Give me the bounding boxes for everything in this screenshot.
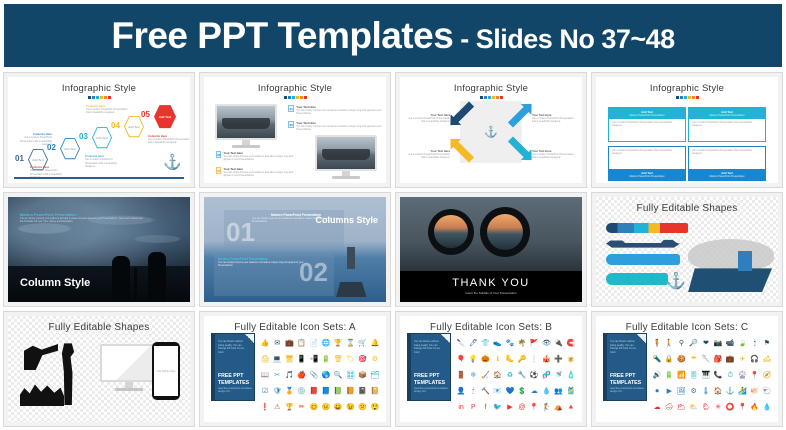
- icon-r2-c5[interactable]: 🦶: [506, 356, 515, 363]
- hex-label-02: Add Text: [61, 139, 79, 159]
- icon-r4-c5[interactable]: 🌡: [701, 388, 710, 395]
- icon-r4-c8[interactable]: 💧: [542, 388, 551, 395]
- hex-number-03: 03: [79, 132, 88, 141]
- hex-label-03: Add Text: [93, 128, 111, 148]
- icon-r4-c5[interactable]: 💙: [506, 388, 515, 395]
- icon-r2-c1[interactable]: 🔦: [653, 356, 662, 363]
- icon-r3-c3[interactable]: 🎵: [285, 372, 294, 379]
- icon-r1-c3[interactable]: ⚲: [679, 340, 684, 347]
- icon-r3-c4[interactable]: 🍎: [297, 372, 306, 379]
- book-blurb: You can Resize without losing quality. Y…: [610, 340, 641, 354]
- icon-r3-c10[interactable]: 🗂: [370, 372, 379, 379]
- hex-caption-02: Contents Here Get a modern PowerPoint Pr…: [16, 132, 52, 146]
- icon-r4-c3[interactable]: 🖼: [677, 388, 686, 395]
- icon-r3-c9[interactable]: 🚿: [554, 372, 563, 379]
- ship-tower: [347, 247, 355, 269]
- column-number-01: 01: [226, 219, 255, 245]
- thank-you-subtitle: Insert the Subtitle of Your Presentation: [465, 291, 516, 295]
- monitor-top-left: [215, 104, 277, 148]
- icon-r1-c5[interactable]: 📄: [310, 340, 319, 347]
- icon-r3-c10[interactable]: 🧴: [567, 372, 576, 379]
- icon-r2-c2[interactable]: 💻: [273, 356, 282, 363]
- icon-r3-c4[interactable]: 🏠: [493, 372, 502, 379]
- dot-row-2: [204, 96, 386, 99]
- slide-canvas-5: Modern PowerPoint Presentation You can s…: [8, 197, 190, 303]
- icon-r5-c1[interactable]: ❗: [261, 404, 270, 411]
- icon-r1-c3[interactable]: 💼: [285, 340, 294, 347]
- book-spine: [604, 334, 607, 400]
- hex-caption-05: Contents Here Get a modern PowerPoint Pr…: [148, 134, 190, 145]
- hex-shape-03[interactable]: Add Text: [92, 127, 112, 149]
- icon-r2-c5[interactable]: 🥄: [702, 356, 711, 363]
- slide-canvas-11: Fully Editable Icon Sets: B You can Resi…: [400, 316, 582, 422]
- book-title: FREE PPT TEMPLATES www.free-powerpoint-t…: [610, 373, 646, 393]
- slide-title-12: Fully Editable Icon Sets: C: [596, 316, 778, 333]
- icon-r3-c2[interactable]: ❄: [470, 372, 476, 379]
- icon-r2-c8[interactable]: 🏷: [346, 356, 355, 363]
- icon-r5-c2[interactable]: 🌧: [665, 404, 674, 411]
- slide-title-2: Infographic Style: [204, 77, 386, 94]
- icon-r4-c6[interactable]: 📘: [322, 388, 331, 395]
- submarine-teal-shape[interactable]: [606, 273, 668, 285]
- book-spine: [408, 334, 411, 400]
- icon-r2-c1[interactable]: 🖨: [261, 356, 270, 363]
- icon-r3-c3[interactable]: 📶: [677, 372, 686, 379]
- book-cover-c[interactable]: You can Resize without losing quality. Y…: [603, 333, 647, 401]
- book-blurb: You can Resize without losing quality. Y…: [218, 340, 249, 354]
- slide-title-4: Infographic Style: [596, 77, 778, 94]
- icon-r5-c1[interactable]: in: [458, 404, 463, 411]
- icon-r5-c5[interactable]: 😊: [310, 404, 319, 411]
- icon-r1-c4[interactable]: 🔎: [689, 340, 698, 347]
- slide-canvas-4: Infographic Style Add Text Modern PowerP…: [596, 77, 778, 183]
- icon-r1-c9[interactable]: 🕯: [754, 340, 756, 347]
- icon-r1-c8[interactable]: 🍃: [738, 340, 747, 347]
- dot-row-3: [400, 96, 582, 99]
- smoke-cloud: [688, 239, 774, 271]
- slide-canvas-8: Fully Editable Shapes ⚓: [596, 197, 778, 303]
- icon-r4-c7[interactable]: ☁: [531, 388, 538, 395]
- hex-shape-05[interactable]: Add Text: [154, 105, 176, 129]
- icon-r1-c2[interactable]: 🚶: [665, 340, 674, 347]
- icon-r3-c6[interactable]: 🔧: [518, 372, 527, 379]
- icon-r3-c9[interactable]: 📦: [358, 372, 367, 379]
- icon-r3-c1[interactable]: 📖: [261, 372, 270, 379]
- number-chip-01: 01: [288, 105, 294, 112]
- icon-r4-c2[interactable]: 🕯: [472, 388, 474, 395]
- icon-r1-c5[interactable]: ❤: [703, 340, 709, 347]
- icon-r2-c4[interactable]: 📱: [297, 356, 306, 363]
- slide-thumbnail-4[interactable]: Infographic Style Add Text Modern PowerP…: [591, 72, 783, 188]
- icon-r2-c3[interactable]: 🖥: [285, 356, 294, 363]
- slide-thumbnail-8[interactable]: Fully Editable Shapes ⚓: [591, 192, 783, 308]
- icon-r5-c3[interactable]: 🏆: [285, 404, 294, 411]
- book-blurb: You can Resize without losing quality. Y…: [414, 340, 445, 354]
- book-url: www.free-powerpoint-templates-design.com: [414, 387, 450, 393]
- book-cover-b[interactable]: You can Resize without losing quality. Y…: [407, 333, 451, 401]
- text-block-03: 03 Your Text Here You can simply impress…: [216, 151, 294, 162]
- icon-r2-c7[interactable]: ❕: [530, 356, 539, 363]
- icon-r5-c9[interactable]: 🔥: [750, 404, 759, 411]
- content-box-1-header: Add Text Modern PowerPoint Presentation: [609, 108, 685, 119]
- slide-5-text: Modern PowerPoint Presentation You can s…: [20, 213, 144, 225]
- book-url: www.free-powerpoint-templates-design.com: [610, 387, 646, 393]
- text-block-02: 02 Your Text Here You can simply impress…: [288, 121, 383, 132]
- icon-r5-c1[interactable]: ☁: [654, 404, 661, 411]
- hex-shape-04[interactable]: Add Text: [124, 116, 144, 138]
- monitor-screen-2: [315, 135, 377, 171]
- icon-r1-c4[interactable]: 👟: [493, 340, 502, 347]
- torpedo-shape[interactable]: [606, 223, 688, 233]
- icon-r3-c7[interactable]: 🔍: [334, 372, 343, 379]
- rifle-silhouette: [134, 268, 137, 302]
- icon-r4-c7[interactable]: 📗: [334, 388, 343, 395]
- hex-number-05: 05: [141, 110, 150, 119]
- icon-r2-c2[interactable]: 🔒: [665, 356, 674, 363]
- icon-r1-c10[interactable]: 🧲: [567, 340, 576, 347]
- soldier-silhouette-2: [148, 252, 166, 302]
- page-banner: Free PPT Templates - Slides No 37~48: [4, 4, 782, 67]
- arrow-caption-01: Your Text Here Get a modern PowerPoint P…: [406, 113, 450, 124]
- book-title: FREE PPT TEMPLATES www.free-powerpoint-t…: [414, 373, 450, 393]
- icon-r1-c1[interactable]: 🧍: [653, 340, 662, 347]
- icon-r3-c1[interactable]: 🔊: [653, 372, 662, 379]
- dot-row-4: [596, 96, 778, 99]
- icon-r1-c8[interactable]: ⌛: [346, 340, 355, 347]
- icon-r2-c8[interactable]: 🎪: [542, 356, 551, 363]
- icon-r1-c4[interactable]: 📋: [297, 340, 306, 347]
- icon-r5-c7[interactable]: ⭕: [726, 404, 735, 411]
- icon-r4-c7[interactable]: ⚓: [726, 388, 735, 395]
- photo-naval-boat: [217, 106, 275, 138]
- imac-base: [115, 388, 143, 391]
- slide-thumbnail-5[interactable]: Modern PowerPoint Presentation You can s…: [3, 192, 195, 308]
- icon-r3-c7[interactable]: ⚽: [530, 372, 539, 379]
- icon-r1-c1[interactable]: 🔪: [457, 340, 466, 347]
- icon-r1-c1[interactable]: 👍: [261, 340, 270, 347]
- icon-r4-c1[interactable]: ⏺: [655, 388, 659, 395]
- icon-r1-c6[interactable]: 🌐: [322, 340, 331, 347]
- icon-r2-c10[interactable]: 🛋: [762, 356, 771, 363]
- slide-baseline-1: [14, 177, 184, 179]
- icon-r5-c6[interactable]: ✳: [715, 404, 721, 411]
- arrow-cycle-group: ⚓: [460, 101, 522, 163]
- slide-thumbnail-10[interactable]: Fully Editable Icon Sets: A You can Resi…: [199, 311, 391, 427]
- content-box-1-body: Get a modern PowerPoint Presentation tha…: [609, 119, 685, 130]
- hex-caption-04: Contents Here Get a modern PowerPoint Pr…: [86, 104, 128, 115]
- text-block-02-body: Your Text Here You can simply impress yo…: [296, 121, 383, 132]
- icon-r4-c2[interactable]: 🛡: [273, 388, 282, 395]
- battleship-tower[interactable]: [738, 251, 752, 271]
- banner-main-text: Free PPT Templates: [111, 15, 453, 56]
- hex-number-01: 01: [15, 154, 24, 163]
- monitor-bottom-right: [315, 135, 377, 179]
- icon-r5-c6[interactable]: @: [519, 404, 526, 411]
- icon-r3-c6[interactable]: 📞: [714, 372, 723, 379]
- icon-r5-c5[interactable]: 🌦: [701, 404, 710, 411]
- icon-r2-c2[interactable]: 💡: [469, 356, 478, 363]
- icon-r5-c6[interactable]: 😐: [322, 404, 331, 411]
- icon-r1-c3[interactable]: 👕: [481, 340, 490, 347]
- number-chip-03: 03: [216, 151, 221, 158]
- arrow-caption-04: Your Text Here Get a modern PowerPoint P…: [406, 149, 450, 160]
- icon-r4-c8[interactable]: 📙: [346, 388, 355, 395]
- icon-r2-c3[interactable]: 🎃: [481, 356, 490, 363]
- content-box-3-header: Add Text Modern PowerPoint Presentation: [609, 169, 685, 180]
- book-cover-a[interactable]: You can Resize without losing quality. Y…: [211, 333, 255, 401]
- icon-r1-c9[interactable]: 🔌: [554, 340, 563, 347]
- icon-r1-c9[interactable]: 🛒: [358, 340, 367, 347]
- hex-shape-02[interactable]: Add Text: [60, 138, 80, 160]
- icon-r4-c6[interactable]: 💲: [518, 388, 527, 395]
- book-title: FREE PPT TEMPLATES www.free-powerpoint-t…: [218, 373, 254, 393]
- slide-grid: Infographic Style 01 Add Text Contents H…: [0, 72, 786, 430]
- slide-thumbnail-2[interactable]: Infographic Style 01 You: [199, 72, 391, 188]
- icon-r2-c9[interactable]: 🎯: [358, 356, 367, 363]
- icon-r5-c3[interactable]: f: [485, 404, 487, 411]
- icon-grid-b: 🔪🖊👕👟🐾🌴🚩👁🔌🧲🎈💡🎃ℹ🦶🔑❕🎪➕🍺🚪❄🏑🏠♻🔧⚽🧬🚿🧴👤🕯🔨📧💙💲☁💧👥🎽…: [455, 335, 577, 416]
- icon-r5-c10[interactable]: 😲: [371, 404, 380, 411]
- icon-r1-c6[interactable]: 🌴: [518, 340, 527, 347]
- arrow-caption-02: Your Text Here Get a modern PowerPoint P…: [532, 113, 576, 124]
- content-box-4[interactable]: Get a modern PowerPoint Presentation tha…: [688, 146, 766, 181]
- slide-thumbnail-1[interactable]: Infographic Style 01 Add Text Contents H…: [3, 72, 195, 188]
- icon-r4-c2[interactable]: ▶: [667, 388, 672, 395]
- icon-r5-c4[interactable]: 🐦: [493, 404, 502, 411]
- icon-r4-c8[interactable]: 🏄: [738, 388, 747, 395]
- icon-r5-c2[interactable]: P: [471, 404, 476, 411]
- content-box-3-body: Get a modern PowerPoint Presentation tha…: [609, 147, 685, 169]
- slide-title-7: THANK YOU: [452, 277, 529, 289]
- icon-r3-c3[interactable]: 🏑: [481, 372, 490, 379]
- content-box-4-body: Get a modern PowerPoint Presentation tha…: [689, 147, 765, 169]
- icon-r5-c7[interactable]: 📍: [530, 404, 539, 411]
- icon-r1-c5[interactable]: 🐾: [506, 340, 515, 347]
- icon-r1-c7[interactable]: 🏆: [334, 340, 343, 347]
- icon-grid-a: 👍✉💼📋📄🌐🏆⌛🛒🔔🖨💻🖥📱📲🔋🗑🏷🎯⚙📖✂🎵🍎📎🌎🔍🎛📦🗂☑🛡🏅💿📕📘📗📙📓📔…: [259, 335, 381, 416]
- icon-r5-c5[interactable]: ▶: [507, 404, 512, 411]
- icon-grid-c: 🧍🚶⚲🔎❤📷📹🍃🕯⚑🔦🔒🍪☂🥄🎒💼✈🎧🛋🔊🔋📶🎚🎹📞⏱🎡📍🧭⏺▶🖼⚙🌡🏠⚓🏄🐖🐑…: [651, 335, 773, 416]
- icon-r4-c10[interactable]: 🎽: [567, 388, 576, 395]
- icon-r3-c2[interactable]: 🔋: [665, 372, 674, 379]
- icon-r5-c10[interactable]: 🔺: [567, 404, 576, 411]
- icon-r4-c1[interactable]: 👤: [457, 388, 466, 395]
- icon-r3-c5[interactable]: ♻: [507, 372, 513, 379]
- text-block-01: 01 Your Text Here You can simply impress…: [288, 105, 383, 116]
- smartphone[interactable]: Your Picture Here: [152, 342, 180, 400]
- content-box-1[interactable]: Add Text Modern PowerPoint Presentation …: [608, 107, 686, 142]
- slide-canvas-7: THANK YOU Insert the Subtitle of Your Pr…: [400, 197, 582, 303]
- column-text-2: Modern PowerPoint Presentation You can s…: [218, 257, 306, 268]
- icon-r3-c10[interactable]: 🧭: [763, 372, 772, 379]
- icon-r3-c5[interactable]: 🎹: [702, 372, 711, 379]
- slide-title-9: Fully Editable Shapes: [8, 316, 190, 333]
- number-chip-04: 04: [216, 167, 221, 174]
- icon-r2-c9[interactable]: ➕: [554, 356, 563, 363]
- icon-r3-c1[interactable]: 🚪: [457, 372, 466, 379]
- icon-r5-c7[interactable]: 😀: [334, 404, 343, 411]
- icon-r3-c8[interactable]: 🎛: [346, 372, 355, 379]
- binocular-lens-left: [428, 209, 474, 255]
- slide-title-3: Infographic Style: [400, 77, 582, 94]
- icon-r5-c4[interactable]: ✏: [299, 404, 305, 411]
- slide-canvas-3: Infographic Style ⚓ Your Text Here Get a…: [400, 77, 582, 183]
- slide-thumbnail-9[interactable]: Fully Editable Shapes Your Picture Here: [3, 311, 195, 427]
- page-root: Free PPT Templates - Slides No 37~48 Inf…: [0, 0, 786, 430]
- slide-canvas-12: Fully Editable Icon Sets: C You can Resi…: [596, 316, 778, 422]
- photo-naval-crew: [317, 137, 375, 169]
- icon-r4-c5[interactable]: 📕: [310, 388, 319, 395]
- banner-title: Free PPT Templates - Slides No 37~48: [111, 15, 674, 57]
- thank-you-bar: THANK YOU Insert the Subtitle of Your Pr…: [400, 271, 582, 303]
- icon-r5-c3[interactable]: 🌥: [677, 404, 686, 411]
- slide-canvas-6: 01 02 Modern PowerPoint Presentation You…: [204, 197, 386, 303]
- text-block-03-body: Your Text Here You can simply impress yo…: [223, 151, 294, 162]
- icon-r4-c10[interactable]: 📔: [371, 388, 380, 395]
- icon-r5-c8[interactable]: 🏌: [542, 404, 551, 411]
- number-chip-02: 02: [288, 121, 294, 128]
- icon-r4-c10[interactable]: 🐑: [763, 388, 772, 395]
- icon-r4-c6[interactable]: 🏠: [714, 388, 723, 395]
- hex-caption-03: Contents Here Get a modern PowerPoint Pr…: [85, 154, 125, 168]
- icon-r4-c4[interactable]: 📧: [493, 388, 502, 395]
- slide-canvas-1: Infographic Style 01 Add Text Contents H…: [8, 77, 190, 183]
- anchor-icon: ⚓: [163, 153, 182, 171]
- slide-title-10: Fully Editable Icon Sets: A: [204, 316, 386, 333]
- imac-monitor[interactable]: [100, 344, 158, 391]
- slide-canvas-9: Fully Editable Shapes Your Picture Here: [8, 316, 190, 422]
- icon-r2-c6[interactable]: 🔑: [518, 356, 527, 363]
- icon-r5-c9[interactable]: ⛺: [554, 404, 563, 411]
- slide-thumbnail-12[interactable]: Fully Editable Icon Sets: C You can Resi…: [591, 311, 783, 427]
- binocular-lens-right: [480, 207, 530, 257]
- smartphone-screen: Your Picture Here: [154, 346, 178, 396]
- icon-r4-c3[interactable]: 🏅: [285, 388, 294, 395]
- icon-r1-c10[interactable]: 🔔: [371, 340, 380, 347]
- icon-r5-c8[interactable]: 📍: [738, 404, 747, 411]
- content-box-2-header: Add Text Modern PowerPoint Presentation: [689, 108, 765, 119]
- arrow-caption-03: Your Text Here Get a modern PowerPoint P…: [532, 149, 576, 160]
- icon-r2-c4[interactable]: ℹ: [496, 356, 499, 363]
- icon-r3-c7[interactable]: ⏱: [728, 372, 733, 379]
- hexagon-chain-1: 01 Add Text Contents Here Get a modern P…: [8, 77, 190, 183]
- icon-r3-c9[interactable]: 📍: [750, 372, 759, 379]
- icon-r2-c6[interactable]: 🔋: [322, 356, 331, 363]
- icon-r2-c3[interactable]: 🍪: [677, 356, 686, 363]
- book-spine: [212, 334, 215, 400]
- text-block-04-body: Your Text Here You can simply impress yo…: [223, 167, 294, 178]
- icon-r2-c10[interactable]: 🍺: [567, 356, 576, 363]
- icon-r5-c2[interactable]: ⚠: [274, 404, 280, 411]
- content-box-3[interactable]: Get a modern PowerPoint Presentation tha…: [608, 146, 686, 181]
- imac-screen: [100, 344, 158, 382]
- icon-r5-c10[interactable]: 💧: [763, 404, 772, 411]
- icon-r2-c4[interactable]: ☂: [691, 356, 697, 363]
- icon-r1-c10[interactable]: ⚑: [764, 340, 770, 347]
- slide-title-5: Column Style: [20, 277, 90, 289]
- slide-canvas-2: Infographic Style 01 You: [204, 77, 386, 183]
- icon-r2-c9[interactable]: 🎧: [750, 356, 759, 363]
- icon-r5-c4[interactable]: ⛅: [689, 404, 698, 411]
- content-box-2-body: Get a modern PowerPoint Presentation tha…: [689, 119, 765, 130]
- icon-r3-c2[interactable]: ✂: [274, 372, 280, 379]
- slide-title-11: Fully Editable Icon Sets: B: [400, 316, 582, 333]
- icon-r2-c5[interactable]: 📲: [310, 356, 319, 363]
- icon-r1-c6[interactable]: 📷: [714, 340, 723, 347]
- book-url: www.free-powerpoint-templates-design.com: [218, 387, 254, 393]
- slide-thumbnail-3[interactable]: Infographic Style ⚓ Your Text Here Get a…: [395, 72, 587, 188]
- content-box-4-header: Add Text Modern PowerPoint Presentation: [689, 169, 765, 180]
- icon-r2-c7[interactable]: 💼: [726, 356, 735, 363]
- banner-sub-text: - Slides No 37~48: [453, 24, 674, 54]
- submarine-blue-shape[interactable]: [606, 254, 680, 265]
- icon-r1-c7[interactable]: 🚩: [530, 340, 539, 347]
- slide-title-6: Columns Style: [315, 211, 378, 229]
- icon-r5-c8[interactable]: 😉: [346, 404, 355, 411]
- slide-canvas-10: Fully Editable Icon Sets: A You can Resi…: [204, 316, 386, 422]
- slide-thumbnail-7[interactable]: THANK YOU Insert the Subtitle of Your Pr…: [395, 192, 587, 308]
- icon-r2-c7[interactable]: 🗑: [334, 356, 343, 363]
- icon-r2-c10[interactable]: ⚙: [372, 356, 378, 363]
- anchor-icon: ⚓: [484, 125, 498, 138]
- icon-r3-c8[interactable]: 🎡: [738, 372, 747, 379]
- icon-r4-c4[interactable]: 💿: [297, 388, 306, 395]
- icon-r3-c6[interactable]: 🌎: [322, 372, 331, 379]
- icon-r4-c3[interactable]: 🔨: [481, 388, 490, 395]
- icon-r5-c9[interactable]: 😕: [358, 404, 367, 411]
- monitor-base-2: [332, 176, 361, 179]
- monitor-screen-1: [215, 104, 277, 140]
- icon-r4-c4[interactable]: ⚙: [691, 388, 697, 395]
- hex-label-04: Add Text: [125, 117, 143, 137]
- anchor-icon[interactable]: ⚓: [666, 271, 686, 291]
- icon-r1-c2[interactable]: ✉: [274, 340, 280, 347]
- icon-r1-c7[interactable]: 📹: [726, 340, 735, 347]
- slide-title-8: Fully Editable Shapes: [596, 197, 778, 214]
- icon-r1-c2[interactable]: 🖊: [469, 340, 478, 347]
- icon-r2-c6[interactable]: 🎒: [714, 356, 723, 363]
- slide-thumbnail-6[interactable]: 01 02 Modern PowerPoint Presentation You…: [199, 192, 391, 308]
- icon-r4-c1[interactable]: ☑: [262, 388, 268, 395]
- icon-r3-c8[interactable]: 🧬: [542, 372, 551, 379]
- text-block-04: 04 Your Text Here You can simply impress…: [216, 167, 294, 178]
- text-block-01-body: Your Text Here You can simply impress yo…: [296, 105, 383, 116]
- icon-r3-c4[interactable]: 🎚: [689, 372, 698, 379]
- soldier-silhouette-1: [112, 256, 130, 302]
- icon-r1-c8[interactable]: 👁: [542, 340, 551, 347]
- monitor-base-1: [232, 145, 261, 148]
- content-box-2[interactable]: Add Text Modern PowerPoint Presentation …: [688, 107, 766, 142]
- icon-r4-c9[interactable]: 🐖: [750, 388, 759, 395]
- icon-r2-c1[interactable]: 🎈: [457, 356, 466, 363]
- slide-thumbnail-11[interactable]: Fully Editable Icon Sets: B You can Resi…: [395, 311, 587, 427]
- icon-r4-c9[interactable]: 👥: [554, 388, 563, 395]
- icon-r4-c9[interactable]: 📓: [358, 388, 367, 395]
- hex-number-04: 04: [111, 121, 120, 130]
- icon-r3-c5[interactable]: 📎: [310, 372, 319, 379]
- battleship-hull[interactable]: [688, 268, 772, 292]
- icon-r2-c8[interactable]: ✈: [740, 356, 746, 363]
